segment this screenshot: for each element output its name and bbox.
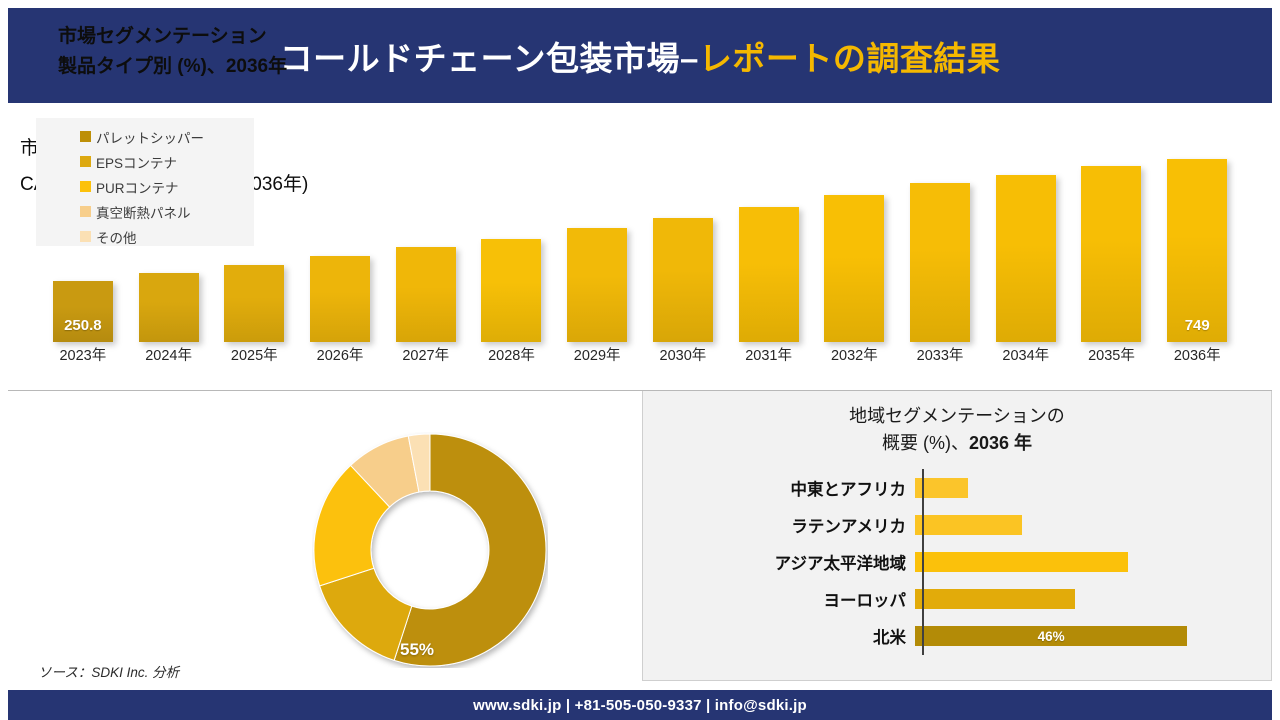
regional-bar[interactable] <box>915 589 1075 609</box>
column-slot: 749 <box>1154 146 1240 342</box>
source-note: ソース：SDKI Inc. 分析 <box>38 661 179 681</box>
column-bar <box>910 183 970 342</box>
legend-swatch-icon <box>80 156 91 167</box>
footer-contact-text: www.sdki.jp | +81-505-050-9337 | info@sd… <box>473 697 807 714</box>
regional-title-line1: 地域セグメンテーションの <box>643 403 1271 430</box>
regional-segmentation-panel: 地域セグメンテーションの 概要 (%)、2036 年 中東とアフリカラテンアメリ… <box>642 391 1272 681</box>
regional-bar-row: アジア太平洋地域 <box>643 547 1273 577</box>
page-title-accent: レポートの調査結果 <box>699 40 1001 77</box>
regional-chart-axis <box>922 469 924 655</box>
column-bar <box>824 195 884 342</box>
legend-item-label: 真空断熱パネル <box>96 202 191 222</box>
regional-bar-row: 中東とアフリカ <box>643 473 1273 503</box>
legend-item[interactable]: その他 <box>36 224 254 249</box>
legend-item-label: EPSコンテナ <box>96 152 177 172</box>
regional-bar-track: 46% <box>915 621 1273 651</box>
regional-bar[interactable] <box>915 552 1128 572</box>
column-x-label: 2028年 <box>469 344 555 372</box>
column-slot <box>469 146 555 342</box>
column-slot <box>640 146 726 342</box>
regional-title-line2: 概要 (%)、2036 年 <box>643 430 1271 457</box>
column-slot <box>811 146 897 342</box>
legend-swatch-icon <box>80 181 91 192</box>
regional-bar-track <box>915 510 1273 540</box>
regional-bar-rows: 中東とアフリカラテンアメリカアジア太平洋地域ヨーロッパ北米46% <box>643 469 1273 655</box>
column-bar <box>139 273 199 342</box>
column-slot <box>554 146 640 342</box>
legend-item[interactable]: パレットシッパー <box>36 124 254 149</box>
legend-item-label: パレットシッパー <box>96 127 204 147</box>
column-bar <box>1081 166 1141 342</box>
column-bar <box>224 265 284 342</box>
legend-item-label: PURコンテナ <box>96 177 179 197</box>
column-x-label: 2033年 <box>897 344 983 372</box>
column-bar-data-label: 250.8 <box>53 317 113 334</box>
regional-bar-data-label: 46% <box>1038 629 1065 644</box>
regional-bar-label: 北米 <box>643 624 915 648</box>
regional-bar[interactable]: 46% <box>915 626 1187 646</box>
column-bar <box>481 239 541 342</box>
legend-item-label: その他 <box>96 227 137 247</box>
regional-title-line2-year: 2036 年 <box>969 433 1032 453</box>
regional-segmentation-title: 地域セグメンテーションの 概要 (%)、2036 年 <box>643 403 1271 457</box>
page-footer: www.sdki.jp | +81-505-050-9337 | info@sd… <box>8 690 1272 720</box>
column-x-label: 2024年 <box>126 344 212 372</box>
legend-swatch-icon <box>80 131 91 142</box>
column-slot <box>726 146 812 342</box>
column-bar <box>653 218 713 342</box>
product-type-donut-chart <box>312 432 548 668</box>
legend-item[interactable]: 真空断熱パネル <box>36 199 254 224</box>
column-x-label: 2032年 <box>811 344 897 372</box>
column-bar-data-label: 749 <box>1167 317 1227 334</box>
legend-swatch-icon <box>80 206 91 217</box>
donut-slice[interactable] <box>320 568 412 660</box>
legend-swatch-icon <box>80 231 91 242</box>
column-x-label: 2025年 <box>211 344 297 372</box>
regional-bar-row: ヨーロッパ <box>643 584 1273 614</box>
column-slot <box>897 146 983 342</box>
column-bar <box>739 207 799 342</box>
column-bar <box>567 228 627 342</box>
column-bar <box>396 247 456 342</box>
regional-bar-label: 中東とアフリカ <box>643 476 915 500</box>
column-x-label: 2031年 <box>726 344 812 372</box>
column-bar <box>310 256 370 342</box>
regional-bar-track <box>915 547 1273 577</box>
column-x-label: 2026年 <box>297 344 383 372</box>
product-segmentation-title: 市場セグメンテーション 製品タイプ別 (%)、2036年 <box>58 22 338 82</box>
product-type-legend: パレットシッパーEPSコンテナPURコンテナ真空断熱パネルその他 <box>36 118 254 246</box>
column-x-label: 2035年 <box>1069 344 1155 372</box>
column-x-label: 2030年 <box>640 344 726 372</box>
column-bar: 250.8 <box>53 281 113 342</box>
page-title: コールドチェーン包装市場–レポートの調査結果 <box>280 32 1001 80</box>
regional-bar-row: 北米46% <box>643 621 1273 651</box>
regional-bar[interactable] <box>915 515 1022 535</box>
column-x-label: 2027年 <box>383 344 469 372</box>
regional-bar-row: ラテンアメリカ <box>643 510 1273 540</box>
regional-bar-label: ヨーロッパ <box>643 587 915 611</box>
column-x-label: 2034年 <box>983 344 1069 372</box>
column-x-label: 2023年 <box>40 344 126 372</box>
column-bar <box>996 175 1056 342</box>
product-segmentation-title-line1: 市場セグメンテーション <box>58 22 338 52</box>
regional-bar-label: アジア太平洋地域 <box>643 550 915 574</box>
regional-bar-track <box>915 473 1273 503</box>
regional-bar-track <box>915 584 1273 614</box>
regional-bar-chart: 中東とアフリカラテンアメリカアジア太平洋地域ヨーロッパ北米46% <box>643 469 1273 669</box>
column-bar: 749 <box>1167 159 1227 343</box>
product-segmentation-title-line2: 製品タイプ別 (%)、2036年 <box>58 52 338 82</box>
column-slot <box>1069 146 1155 342</box>
column-slot <box>297 146 383 342</box>
column-x-label: 2029年 <box>554 344 640 372</box>
infographic-page: コールドチェーン包装市場–レポートの調査結果 市場収益 (億米ドル) CAGR％… <box>0 0 1280 720</box>
regional-bar-label: ラテンアメリカ <box>643 513 915 537</box>
column-x-label: 2036年 <box>1154 344 1240 372</box>
donut-slice-data-label: 55% <box>400 640 434 660</box>
legend-item[interactable]: PURコンテナ <box>36 174 254 199</box>
column-chart-x-axis-labels: 2023年2024年2025年2026年2027年2028年2029年2030年… <box>40 344 1240 372</box>
legend-item[interactable]: EPSコンテナ <box>36 149 254 174</box>
column-slot <box>383 146 469 342</box>
regional-title-line2-prefix: 概要 (%)、 <box>882 433 969 453</box>
column-slot <box>983 146 1069 342</box>
page-title-main: コールドチェーン包装市場– <box>280 40 699 77</box>
